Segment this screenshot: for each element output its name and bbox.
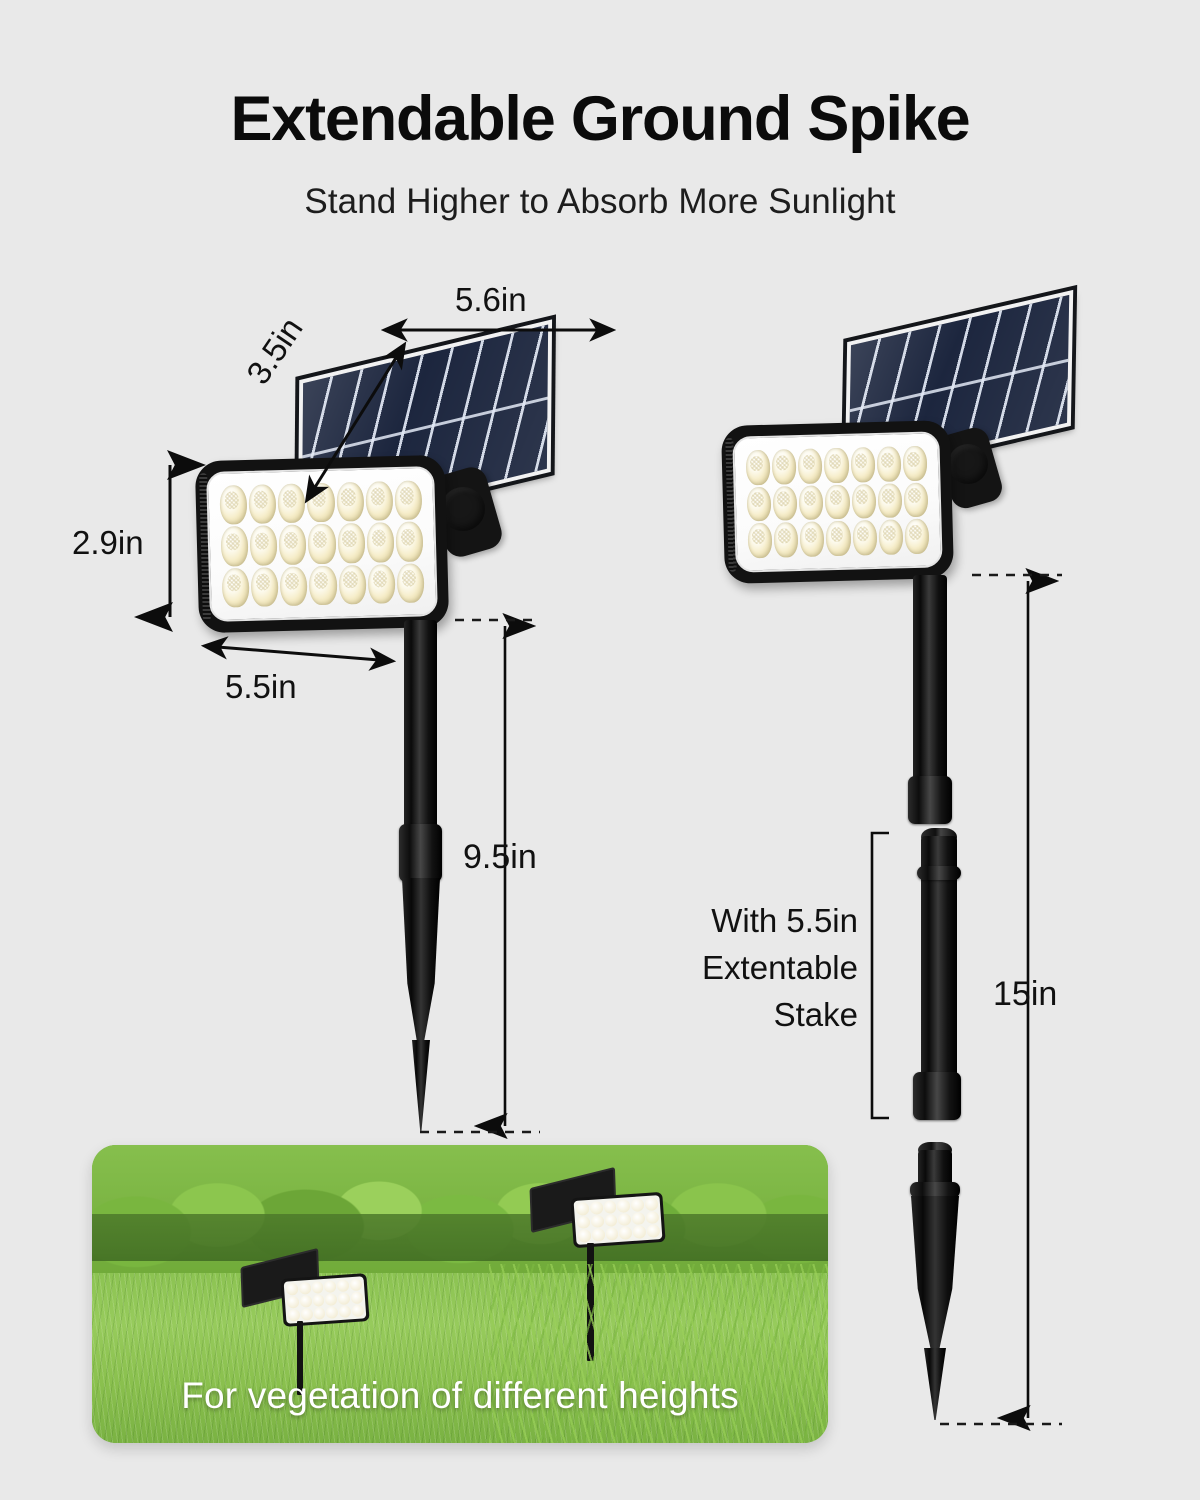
led [904,519,929,554]
left-ground-spike [402,878,440,1048]
left-led-array [206,466,438,622]
extension-tube-ring [917,866,961,880]
led [279,525,307,565]
led [825,484,850,519]
page-title: Extendable Ground Spike [0,86,1200,152]
dim-label-head-height: 2.9in [72,524,144,562]
led [800,522,825,557]
right-hinge-pivot [948,444,988,484]
led [251,567,279,607]
led [308,524,336,564]
led [799,485,824,520]
led [338,565,366,605]
lifestyle-photo: For vegetation of different heights [92,1145,828,1443]
led [249,484,277,524]
infographic-root: Extendable Ground Spike Stand Higher to … [0,0,1200,1500]
led [222,568,250,608]
photo-lamp-tall-leds [574,1195,663,1245]
led [396,563,424,603]
led [746,450,771,485]
dim-label-head-width: 5.5in [225,668,297,706]
led [747,486,772,521]
led [748,523,773,558]
left-ground-spike-tip [412,1040,430,1132]
led [278,483,306,523]
led [876,446,901,481]
led [337,523,365,563]
led [367,564,395,604]
left-hinge-pivot [441,487,485,531]
left-pole-collar [399,824,442,882]
right-ground-spike [911,1196,959,1356]
led [336,482,364,522]
led [903,482,928,517]
led [772,449,797,484]
led [902,446,927,481]
dim-label-total-height-short: 9.5in [463,838,537,877]
led [280,566,308,606]
led [219,485,247,525]
right-ground-spike-tip [924,1348,946,1420]
led [395,522,423,562]
led [824,448,849,483]
led [850,447,875,482]
right-spike-ring [910,1182,960,1198]
led [221,526,249,566]
led [774,522,799,557]
dim-label-total-height-extended: 15in [993,975,1057,1014]
led [826,521,851,556]
led [250,526,278,566]
extension-tube-base [913,1072,961,1120]
led [798,448,823,483]
left-lamp-head [195,455,449,633]
dim-label-panel-width: 5.6in [455,281,527,319]
led [852,520,877,555]
photo-lamp-short-head [280,1273,369,1327]
led [309,565,337,605]
photo-lamp-short-leds [284,1276,367,1323]
photo-hedge-wall [92,1214,828,1262]
right-lamp-head [721,420,954,584]
led [394,480,422,520]
led [365,481,393,521]
led [851,484,876,519]
led [877,483,902,518]
photo-caption: For vegetation of different heights [92,1375,828,1417]
led [878,520,903,555]
led [773,486,798,521]
right-upper-pole [913,575,947,787]
led [307,483,335,523]
photo-lamp-tall-head [570,1192,665,1248]
led [366,522,394,562]
extendable-stake-note: With 5.5in Extentable Stake [640,898,858,1039]
left-pole [404,620,437,835]
right-upper-collar [908,776,952,824]
right-led-array [732,431,942,572]
page-subtitle: Stand Higher to Absorb More Sunlight [0,182,1200,222]
